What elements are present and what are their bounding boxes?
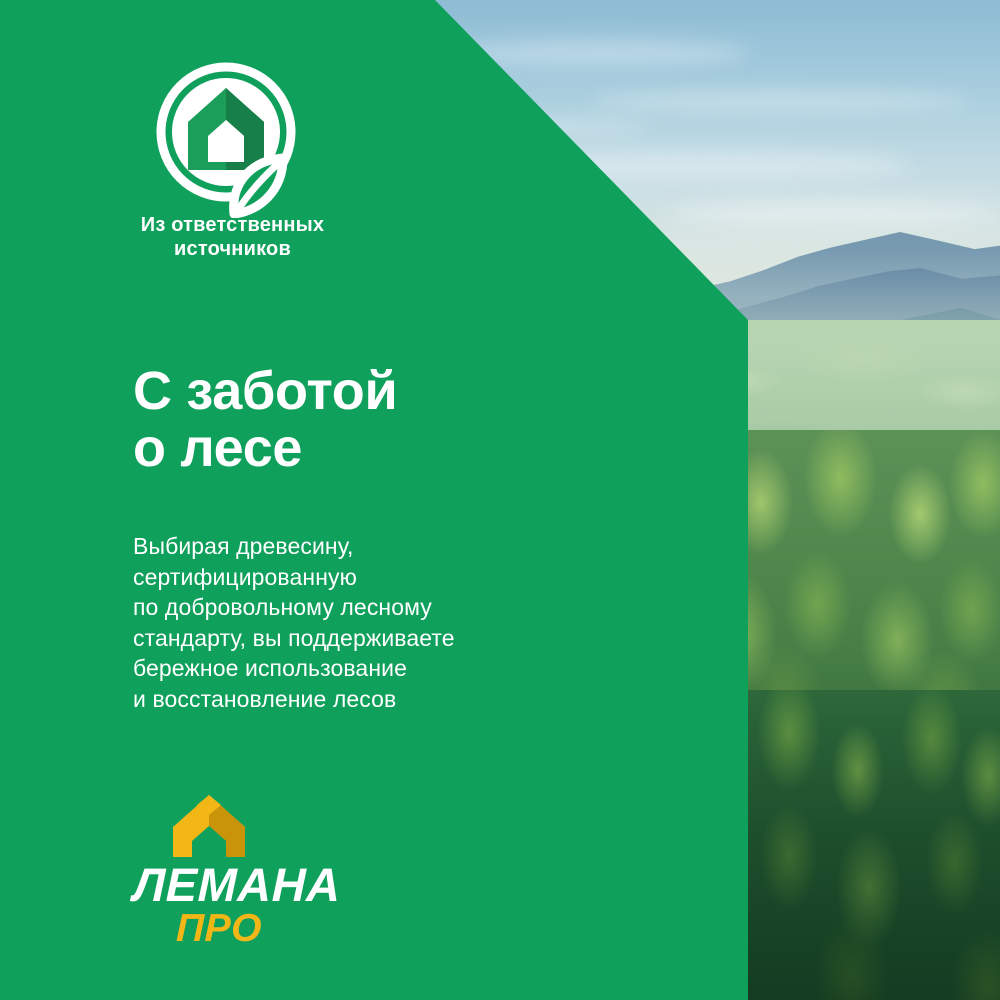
body-line: бережное использование — [133, 653, 663, 684]
emblem-caption: Из ответственных источников — [100, 213, 365, 262]
body-line: стандарту, вы поддерживаете — [133, 623, 663, 654]
lemana-house-icon — [171, 793, 247, 859]
brand-logo: ЛЕМАНА ПРО — [133, 793, 383, 948]
responsible-sourcing-emblem — [152, 58, 312, 218]
body-line: Выбирая древесину, — [133, 531, 663, 562]
poster-content: Из ответственных источников С заботой о … — [0, 0, 1000, 1000]
headline-line-2: о лесе — [133, 420, 693, 477]
brand-suffix: ПРО — [133, 909, 306, 948]
body-line: по добровольному лесному — [133, 592, 663, 623]
emblem-caption-line-1: Из ответственных — [141, 214, 324, 236]
body-line: сертифицированную — [133, 562, 663, 593]
page-title: С заботой о лесе — [133, 363, 693, 477]
brand-name: ЛЕМАНА — [133, 861, 384, 908]
house-leaf-circle-emblem — [152, 58, 312, 218]
body-line: и восстановление лесов — [133, 684, 663, 715]
emblem-caption-line-2: источников — [100, 237, 365, 261]
body-copy: Выбирая древесину, сертифицированную по … — [133, 531, 663, 714]
headline-line-1: С заботой — [133, 363, 693, 420]
poster-canvas: Из ответственных источников С заботой о … — [0, 0, 1000, 1000]
